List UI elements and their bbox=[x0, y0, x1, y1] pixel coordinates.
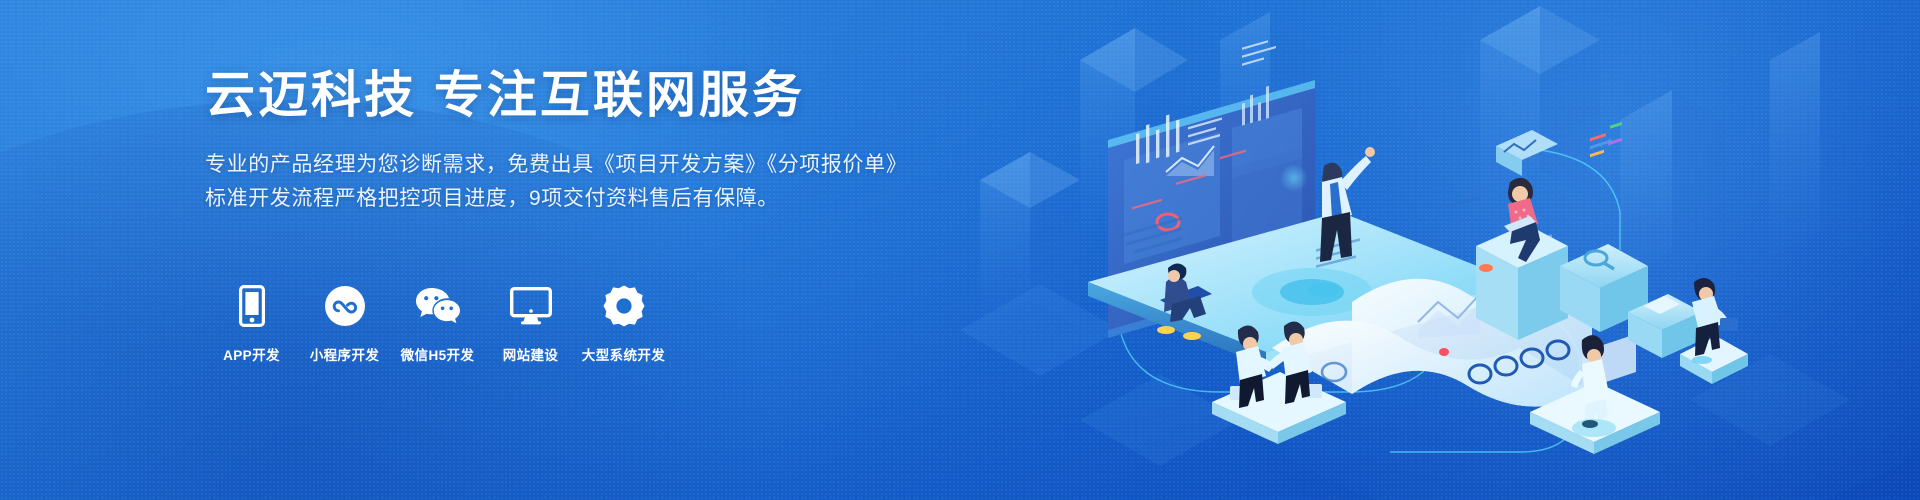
city-block-towers bbox=[960, 6, 1870, 466]
service-label: 小程序开发 bbox=[310, 344, 380, 364]
hero-illustration bbox=[920, 0, 1920, 500]
gear-icon bbox=[603, 282, 645, 330]
mobile-phone-icon bbox=[239, 282, 265, 330]
service-list: APP开发 小程序开发 微信 bbox=[205, 282, 670, 364]
hero-banner: 云迈科技 专注互联网服务 专业的产品经理为您诊断需求，免费出具《项目开发方案》《… bbox=[0, 0, 1920, 500]
mini-program-icon bbox=[324, 282, 366, 330]
wechat-icon bbox=[414, 282, 462, 330]
hero-copy: 云迈科技 专注互联网服务 专业的产品经理为您诊断需求，免费出具《项目开发方案》《… bbox=[205, 68, 905, 216]
hero-subtitle: 专业的产品经理为您诊断需求，免费出具《项目开发方案》《分项报价单》 标准开发流程… bbox=[205, 148, 905, 216]
service-item-mini-program[interactable]: 小程序开发 bbox=[298, 282, 391, 364]
service-item-website[interactable]: 网站建设 bbox=[484, 282, 577, 364]
service-item-app[interactable]: APP开发 bbox=[205, 282, 298, 364]
service-label: APP开发 bbox=[223, 344, 280, 364]
service-item-wechat-h5[interactable]: 微信H5开发 bbox=[391, 282, 484, 364]
subtitle-line-1: 专业的产品经理为您诊断需求，免费出具《项目开发方案》《分项报价单》 bbox=[205, 148, 905, 182]
monitor-icon bbox=[510, 282, 552, 330]
subtitle-line-2: 标准开发流程严格把控项目进度，9项交付资料售后有保障。 bbox=[205, 182, 905, 216]
service-item-large-system[interactable]: 大型系统开发 bbox=[577, 282, 670, 364]
service-label: 大型系统开发 bbox=[582, 344, 665, 364]
service-label: 网站建设 bbox=[503, 344, 559, 364]
service-label: 微信H5开发 bbox=[401, 344, 475, 364]
page-title: 云迈科技 专注互联网服务 bbox=[205, 68, 905, 123]
